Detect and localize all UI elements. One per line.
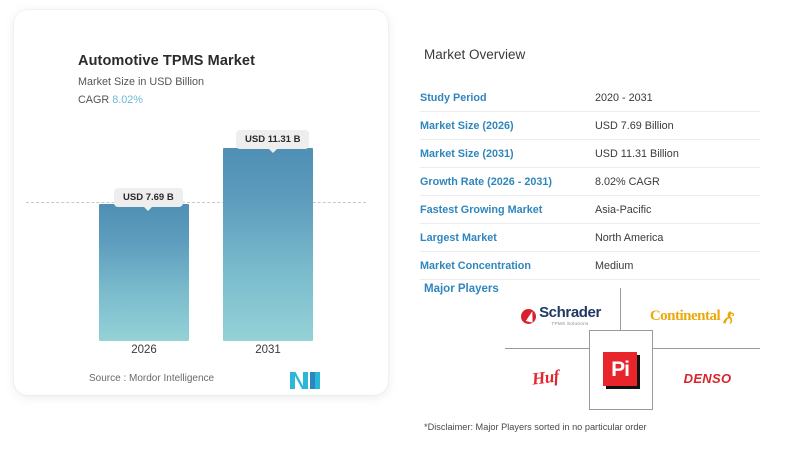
schrader-mark-icon xyxy=(521,309,536,324)
continental-horse-icon xyxy=(721,309,735,324)
bar-2026 xyxy=(99,204,189,341)
table-row: Market Size (2031) USD 11.31 Billion xyxy=(420,140,760,168)
overview-heading: Market Overview xyxy=(424,47,525,62)
major-players-heading: Major Players xyxy=(424,283,499,295)
row-label: Market Size (2026) xyxy=(420,120,595,132)
pi-tile-icon: Pi xyxy=(603,352,637,386)
row-value: 8.02% CAGR xyxy=(595,176,660,188)
chart-card: Automotive TPMS Market Market Size in US… xyxy=(14,10,388,395)
table-row: Study Period 2020 - 2031 xyxy=(420,84,760,112)
row-value: USD 7.69 Billion xyxy=(595,120,674,132)
bar-2031 xyxy=(223,148,313,341)
row-value: Asia-Pacific xyxy=(595,204,651,216)
denso-name: DENSO xyxy=(684,371,732,386)
row-label: Largest Market xyxy=(420,232,595,244)
row-value: USD 11.31 Billion xyxy=(595,148,679,160)
player-logo-denso: DENSO xyxy=(655,352,760,404)
bar-value-badge-2031: USD 11.31 B xyxy=(236,130,309,149)
row-label: Market Size (2031) xyxy=(420,148,595,160)
row-value: 2020 - 2031 xyxy=(595,92,653,104)
row-label: Market Concentration xyxy=(420,260,595,272)
table-row: Market Size (2026) USD 7.69 Billion xyxy=(420,112,760,140)
pi-name: Pi xyxy=(611,359,629,380)
bar-chart-plot: USD 7.69 B USD 11.31 B 2026 2031 xyxy=(14,10,388,395)
player-logo-pi: Pi xyxy=(589,332,651,406)
continental-name: Continental xyxy=(650,308,720,325)
x-axis-label-2031: 2031 xyxy=(213,344,323,356)
player-logo-huf: Huf xyxy=(505,352,585,404)
table-row: Growth Rate (2026 - 2031) 8.02% CAGR xyxy=(420,168,760,196)
mordor-intelligence-logo xyxy=(290,372,320,389)
schrader-name: Schrader xyxy=(539,305,601,320)
row-value: North America xyxy=(595,232,663,244)
reference-gridline xyxy=(26,202,366,203)
market-overview-table: Study Period 2020 - 2031 Market Size (20… xyxy=(420,84,760,280)
huf-name: Huf xyxy=(530,366,559,389)
table-row: Largest Market North America xyxy=(420,224,760,252)
disclaimer-text: *Disclaimer: Major Players sorted in no … xyxy=(424,422,647,432)
table-row: Market Concentration Medium xyxy=(420,252,760,280)
row-label: Fastest Growing Market xyxy=(420,204,595,216)
row-label: Study Period xyxy=(420,92,595,104)
table-row: Fastest Growing Market Asia-Pacific xyxy=(420,196,760,224)
bar-value-badge-2026: USD 7.69 B xyxy=(114,188,183,207)
row-value: Medium xyxy=(595,260,633,272)
major-players-grid: Schrader TPMS Solutions Continental Huf … xyxy=(505,288,760,408)
schrader-tagline: TPMS Solutions xyxy=(539,322,601,327)
infographic-page: Automotive TPMS Market Market Size in US… xyxy=(0,0,800,459)
x-axis-label-2026: 2026 xyxy=(89,344,199,356)
row-label: Growth Rate (2026 - 2031) xyxy=(420,176,595,188)
source-text: Source : Mordor Intelligence xyxy=(89,373,214,384)
